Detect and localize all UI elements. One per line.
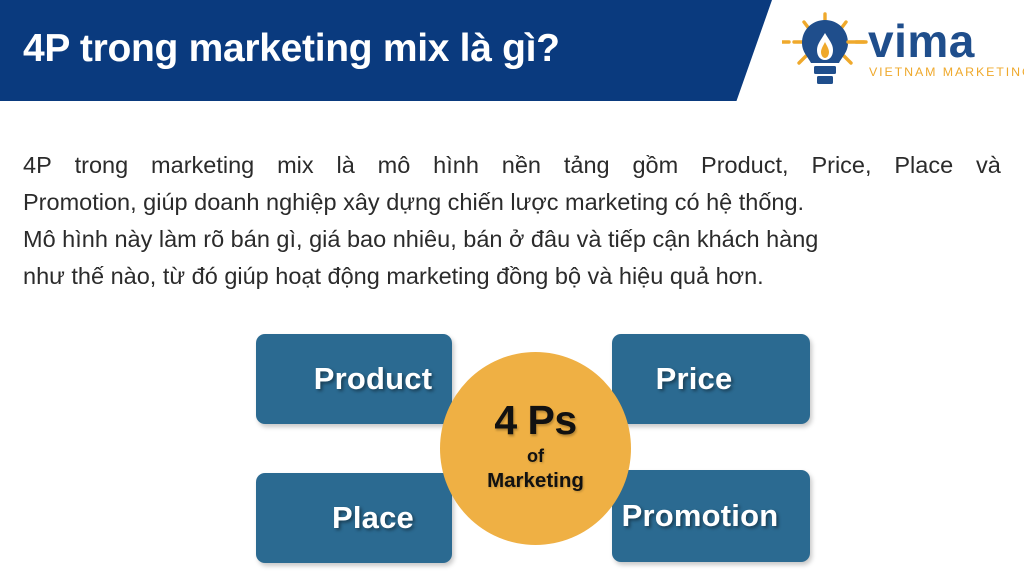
slide-canvas: 4P trong marketing mix là gì? xyxy=(0,0,1024,576)
diagram-center-circle: 4 Ps of Marketing xyxy=(440,352,631,545)
center-subline-of: of xyxy=(527,445,544,467)
diagram-box-price[interactable]: Price xyxy=(612,334,810,424)
diagram-box-place-label: Place xyxy=(256,500,452,536)
center-subline-marketing: Marketing xyxy=(487,469,584,493)
diagram-box-product-label: Product xyxy=(256,361,452,397)
diagram-box-promotion-label: Promotion xyxy=(612,498,810,534)
four-ps-diagram: Product Price Place Promotion 4 Ps of Ma… xyxy=(0,0,1024,576)
diagram-box-promotion[interactable]: Promotion xyxy=(612,470,810,562)
diagram-box-price-label: Price xyxy=(612,361,810,397)
diagram-box-place[interactable]: Place xyxy=(256,473,452,563)
diagram-box-product[interactable]: Product xyxy=(256,334,452,424)
center-headline: 4 Ps xyxy=(494,398,576,442)
